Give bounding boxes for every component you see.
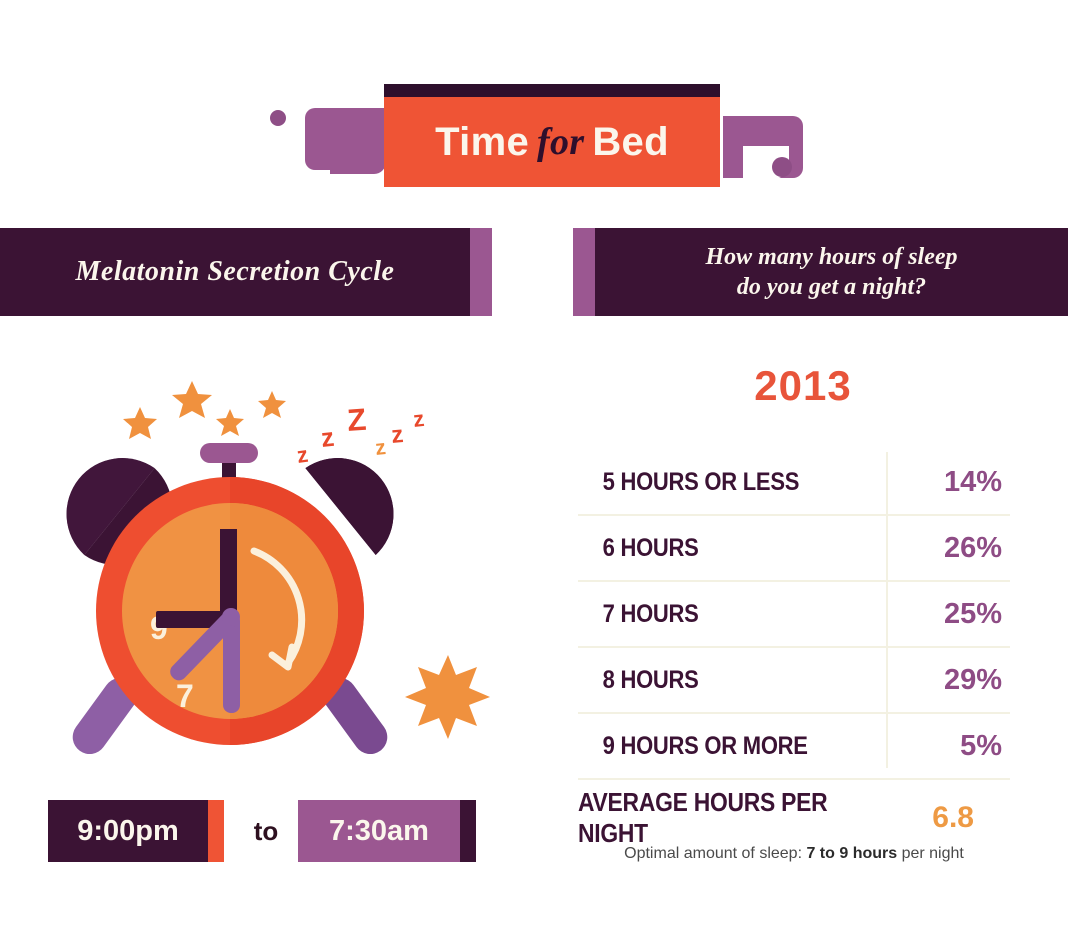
table-cell-value: 5% bbox=[882, 730, 1010, 763]
left-section-header: Melatonin Secretion Cycle bbox=[0, 228, 492, 316]
title-top-stripe bbox=[384, 84, 720, 97]
right-section-header: How many hours of sleep do you get a nig… bbox=[573, 228, 1068, 316]
table-row: 7 HOURS 25% bbox=[578, 582, 1010, 648]
right-header-title: How many hours of sleep do you get a nig… bbox=[595, 228, 1068, 316]
ribbon-dot-left-icon bbox=[270, 110, 286, 126]
right-header-accent bbox=[573, 228, 595, 316]
table-cell-value: 29% bbox=[882, 664, 1010, 697]
title-banner: Time for Bed bbox=[0, 40, 1068, 160]
sun-icon bbox=[405, 655, 490, 739]
table-cell-label: 8 HOURS bbox=[578, 666, 846, 695]
svg-text:z: z bbox=[319, 422, 335, 453]
table-cell-label: 6 HOURS bbox=[578, 534, 846, 563]
optimal-range: 7 to 9 hours bbox=[806, 845, 897, 862]
average-hours-label: AVERAGE HOURS PER NIGHT bbox=[578, 787, 890, 849]
svg-text:z: z bbox=[295, 442, 309, 468]
table-row: 9 HOURS OR MORE 5% bbox=[578, 714, 1010, 780]
table-cell-label: 9 HOURS OR MORE bbox=[578, 732, 846, 761]
moon-icon bbox=[60, 375, 102, 459]
time-start-accent bbox=[208, 800, 224, 862]
title-word-for: for bbox=[537, 120, 584, 164]
clock-number-7: 7 bbox=[176, 678, 194, 714]
time-start-badge: 9:00pm bbox=[48, 800, 208, 862]
melatonin-time-range: 9:00pm to 7:30am bbox=[48, 800, 508, 862]
right-header-line1: How many hours of sleep bbox=[705, 242, 957, 272]
ribbon-dot-right-icon bbox=[772, 157, 792, 177]
svg-text:z: z bbox=[412, 406, 426, 432]
sleep-hours-table: 5 HOURS OR LESS 14% 6 HOURS 26% 7 HOURS … bbox=[578, 450, 1010, 780]
svg-text:Z: Z bbox=[346, 402, 367, 438]
table-row: 6 HOURS 26% bbox=[578, 516, 1010, 582]
table-cell-value: 25% bbox=[882, 598, 1010, 631]
table-cell-value: 14% bbox=[882, 466, 1010, 499]
average-hours-value: 6.8 bbox=[932, 801, 1010, 835]
time-separator: to bbox=[236, 800, 296, 862]
svg-text:z: z bbox=[374, 436, 387, 460]
survey-year: 2013 bbox=[573, 362, 1033, 416]
time-end-accent bbox=[460, 800, 476, 862]
title-word-time: Time bbox=[435, 120, 529, 165]
table-row: 5 HOURS OR LESS 14% bbox=[578, 450, 1010, 516]
sleep-z-letters: z z Z z z z bbox=[295, 402, 425, 468]
star-icon-3 bbox=[216, 409, 244, 436]
ribbon-left-arm-decoration bbox=[330, 136, 386, 174]
average-hours-row: AVERAGE HOURS PER NIGHT 6.8 bbox=[578, 800, 1010, 836]
optimal-suffix: per night bbox=[897, 845, 964, 862]
optimal-prefix: Optimal amount of sleep: bbox=[624, 845, 806, 862]
star-icon-2 bbox=[172, 381, 212, 418]
star-icon-4 bbox=[258, 391, 286, 418]
left-header-title: Melatonin Secretion Cycle bbox=[0, 228, 470, 316]
infographic-canvas: Time for Bed Melatonin Secretion Cycle H… bbox=[0, 0, 1068, 928]
clock-center-pin bbox=[222, 608, 240, 626]
table-row: 8 HOURS 29% bbox=[578, 648, 1010, 714]
alarm-clock-illustration: z z Z z z z bbox=[40, 355, 520, 775]
left-header-accent bbox=[470, 228, 492, 316]
star-icon-1 bbox=[123, 407, 157, 439]
optimal-sleep-note: Optimal amount of sleep: 7 to 9 hours pe… bbox=[578, 845, 1010, 863]
title-word-bed: Bed bbox=[592, 120, 668, 165]
table-cell-label: 5 HOURS OR LESS bbox=[578, 468, 846, 497]
table-cell-value: 26% bbox=[882, 532, 1010, 565]
right-header-line2: do you get a night? bbox=[737, 272, 926, 302]
table-cell-label: 7 HOURS bbox=[578, 600, 846, 629]
svg-text:z: z bbox=[390, 421, 404, 449]
time-end-badge: 7:30am bbox=[298, 800, 460, 862]
page-title: Time for Bed bbox=[384, 102, 720, 182]
